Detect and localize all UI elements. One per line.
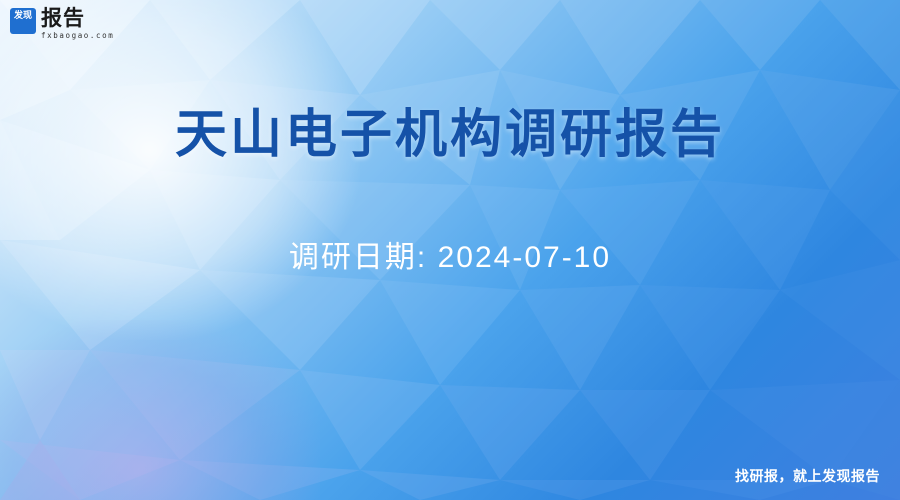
logo-main-text: 报告 <box>41 8 114 29</box>
brand-logo: 发现 报告 fxbaogao.com <box>10 8 114 40</box>
survey-date-subtitle: 调研日期: 2024-07-10 <box>0 232 900 276</box>
page-title: 天山电子机构调研报告 <box>0 92 900 167</box>
logo-domain-text: fxbaogao.com <box>41 32 114 40</box>
logo-badge-icon: 发现 <box>10 8 36 34</box>
logo-text-group: 报告 fxbaogao.com <box>41 8 114 40</box>
footer-slogan: 找研报，就上发现报告 <box>735 466 880 486</box>
cover-slide: 发现 报告 fxbaogao.com 天山电子机构调研报告 调研日期: 2024… <box>0 0 900 500</box>
